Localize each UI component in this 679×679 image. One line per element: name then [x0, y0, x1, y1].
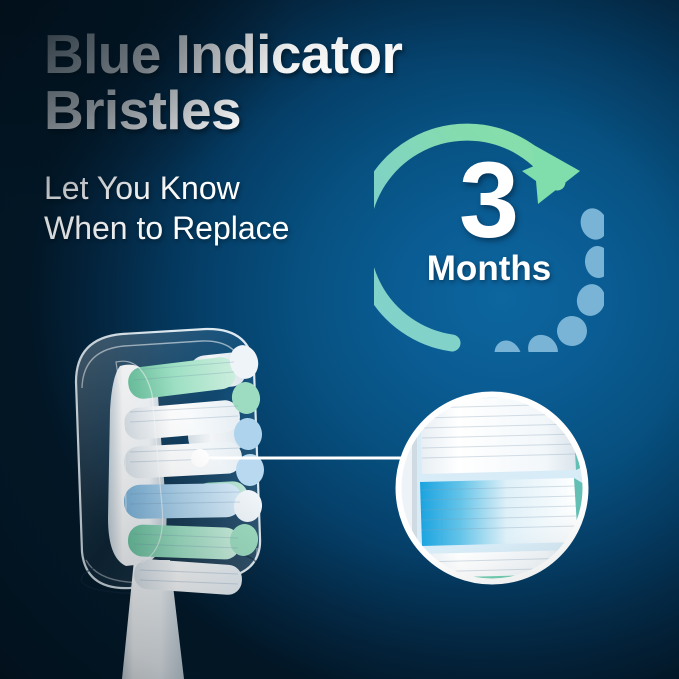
callout-dot — [191, 449, 209, 467]
toothbrush-illustration — [38, 322, 338, 679]
headline-line-1: Blue Indicator — [44, 26, 604, 82]
magnifier-inset — [386, 382, 598, 594]
product-feature-image: Blue Indicator Bristles Let You Know Whe… — [0, 0, 679, 679]
badge-number: 3 — [374, 146, 604, 254]
toothbrush-head-graphic — [38, 322, 338, 679]
three-months-badge: 3 Months — [374, 122, 604, 352]
magnified-bristles — [386, 382, 587, 594]
bristle-row-green — [127, 524, 240, 560]
badge-unit-label: Months — [374, 250, 604, 288]
bristle-closeup-graphic — [386, 382, 598, 594]
